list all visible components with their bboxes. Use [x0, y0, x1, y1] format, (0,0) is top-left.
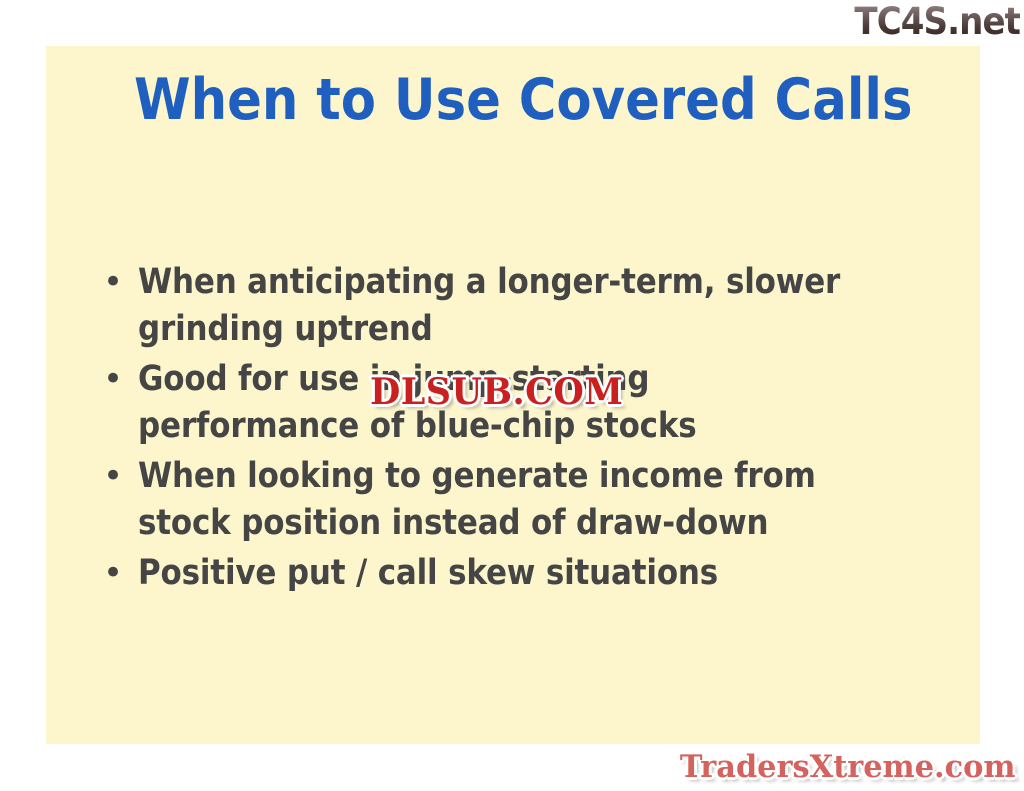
- list-item: • When anticipating a longer-term, slowe…: [100, 259, 960, 353]
- bullet-point-icon: •: [100, 356, 138, 403]
- list-item: • Good for use in jump-starting performa…: [100, 356, 960, 450]
- slide-root: TC4S.net When to Use Covered Calls • Whe…: [0, 0, 1024, 791]
- list-item-label: Positive put / call skew situations: [138, 550, 865, 597]
- bullet-point-icon: •: [100, 550, 138, 597]
- site-logo: TC4S.net: [854, 2, 1020, 42]
- bullet-list: • When anticipating a longer-term, slowe…: [100, 259, 960, 600]
- bullet-point-icon: •: [100, 453, 138, 500]
- list-item-label: When anticipating a longer-term, slower …: [138, 259, 865, 353]
- bullet-point-icon: •: [100, 259, 138, 306]
- list-item-label: Good for use in jump-starting performanc…: [138, 356, 865, 450]
- page-title: When to Use Covered Calls: [134, 69, 854, 131]
- list-item-label: When looking to generate income from sto…: [138, 453, 865, 547]
- list-item: • Positive put / call skew situations: [100, 550, 960, 597]
- list-item: • When looking to generate income from s…: [100, 453, 960, 547]
- brand-logo: TradersXtreme.com: [680, 749, 1016, 785]
